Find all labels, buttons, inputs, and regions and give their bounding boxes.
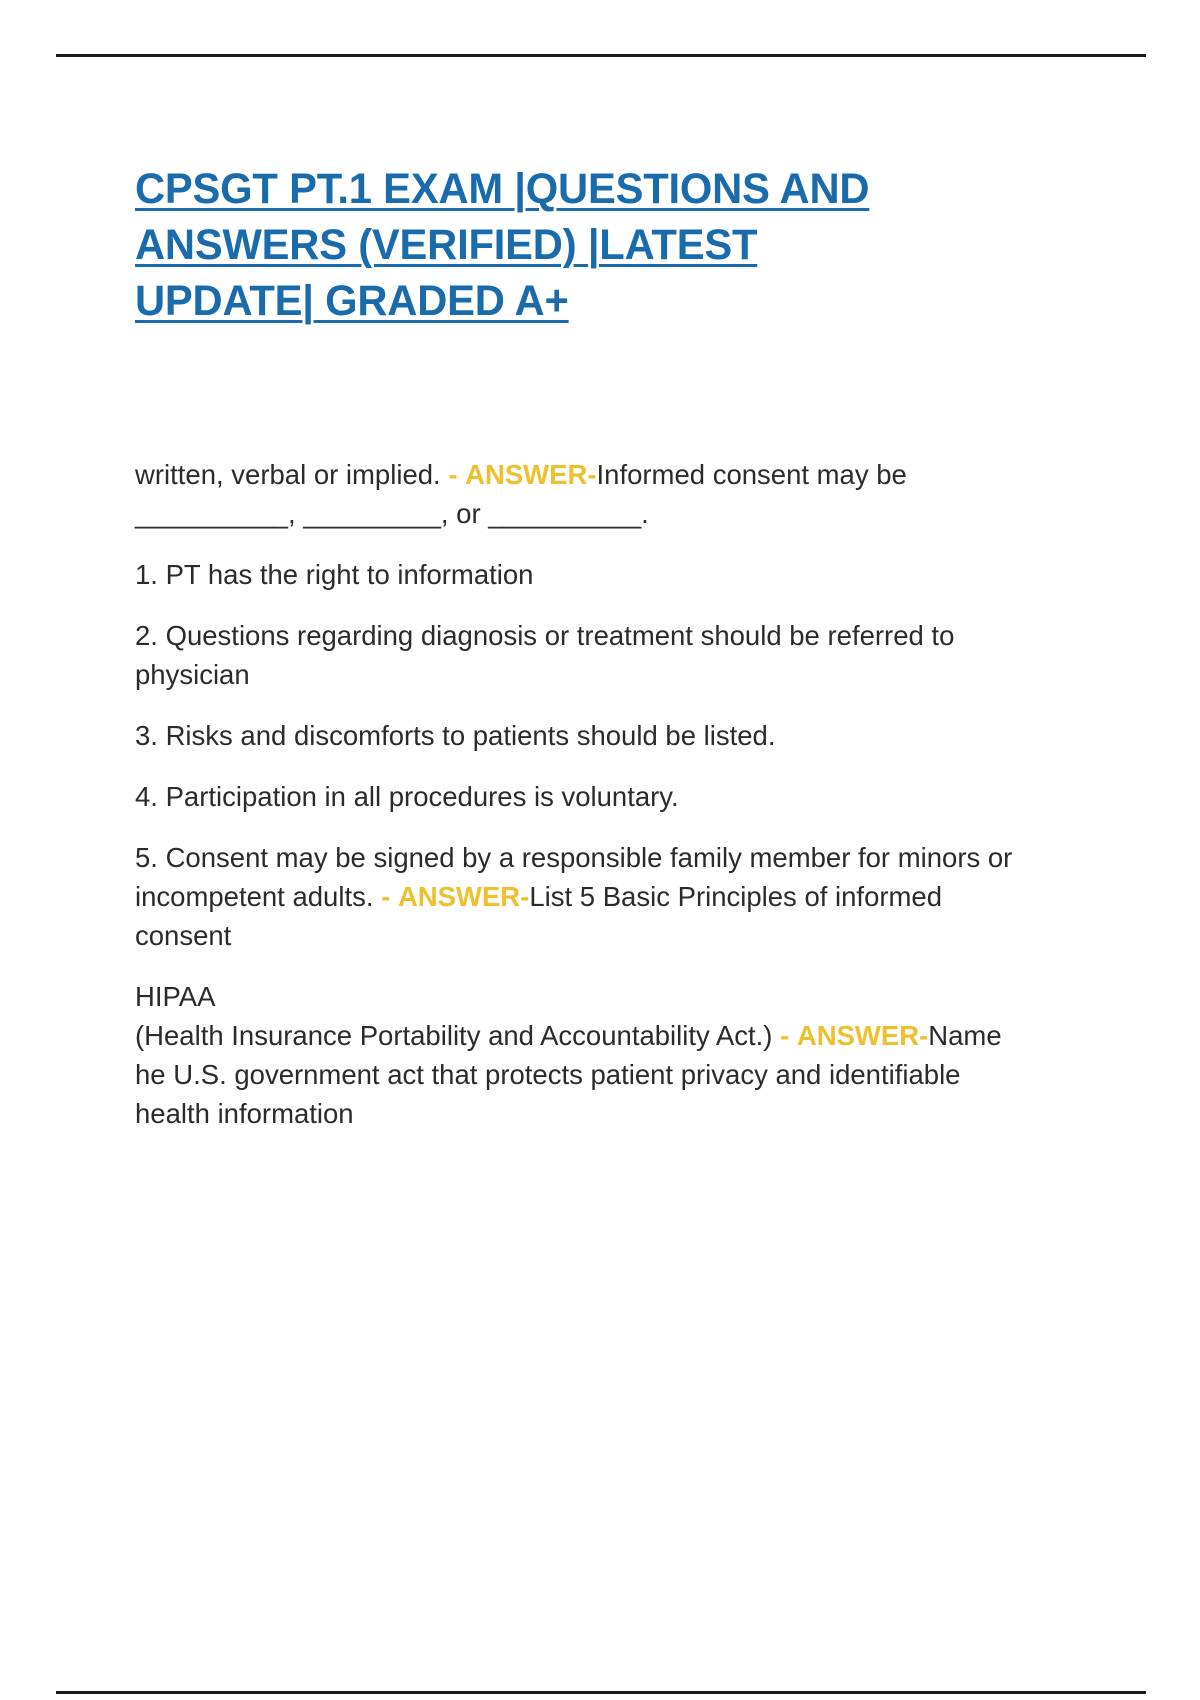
- hipaa-expansion: (Health Insurance Portability and Accoun…: [135, 1020, 780, 1051]
- qa-answer-text: written, verbal or implied.: [135, 459, 448, 490]
- answer-marker: ANSWER: [398, 881, 520, 912]
- page-title: CPSGT PT.1 EXAM |QUESTIONS AND ANSWERS (…: [135, 161, 998, 329]
- page-bottom-divider: [56, 1691, 1146, 1694]
- qa-item-informed-consent: written, verbal or implied. - ANSWER-Inf…: [135, 455, 1013, 533]
- hipaa-acronym: HIPAA: [135, 977, 1013, 1016]
- list-item: 1. PT has the right to information: [135, 555, 1013, 594]
- page-title-line-1-text: CPSGT PT.1 EXAM |QUESTIONS AND: [135, 165, 869, 213]
- list-item: 4. Participation in all procedures is vo…: [135, 777, 1013, 816]
- list-item: 2. Questions regarding diagnosis or trea…: [135, 616, 1013, 694]
- page-top-divider: [56, 54, 1146, 57]
- page-title-line-2-text: ANSWERS (VERIFIED) |LATEST: [135, 221, 757, 269]
- answer-dash-trailing: -: [520, 881, 529, 912]
- answer-marker: ANSWER: [797, 1020, 919, 1051]
- page-title-line-2: ANSWERS (VERIFIED) |LATEST: [135, 217, 998, 273]
- answer-marker: ANSWER: [465, 459, 587, 490]
- page-title-line-1: CPSGT PT.1 EXAM |QUESTIONS AND: [135, 161, 998, 217]
- answer-dash-trailing: -: [587, 459, 596, 490]
- document-body: written, verbal or implied. - ANSWER-Inf…: [135, 455, 1013, 1155]
- page-title-line-3: UPDATE| GRADED A+: [135, 273, 998, 329]
- qa-item-basic-principles: 5. Consent may be signed by a responsibl…: [135, 838, 1013, 955]
- page-title-line-3-text: UPDATE| GRADED A+: [135, 277, 569, 325]
- qa-item-hipaa: HIPAA(Health Insurance Portability and A…: [135, 977, 1013, 1133]
- answer-dash-leading: -: [780, 1020, 789, 1051]
- document-page: CPSGT PT.1 EXAM |QUESTIONS AND ANSWERS (…: [0, 0, 1200, 1700]
- answer-dash-leading: -: [381, 881, 390, 912]
- answer-dash-trailing: -: [919, 1020, 928, 1051]
- list-item: 3. Risks and discomforts to patients sho…: [135, 716, 1013, 755]
